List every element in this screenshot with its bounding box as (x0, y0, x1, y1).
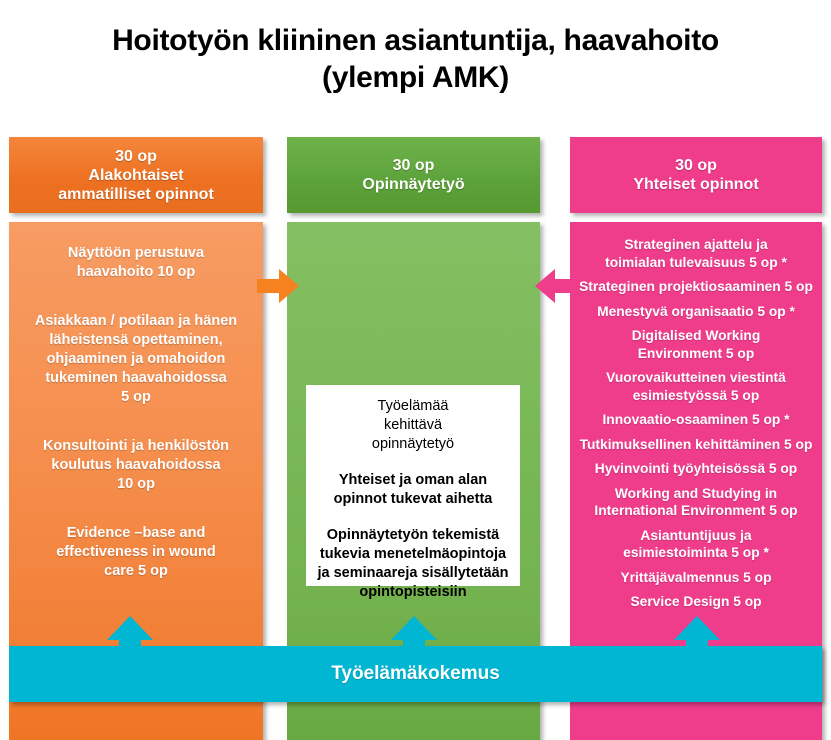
thesis-box-bold-text-2: Opinnäytetyön tekemistä tukevia menetelm… (316, 526, 510, 602)
page-title-line-2: (ylempi AMK) (0, 59, 831, 96)
work-experience-bar: Työelämäkokemus (9, 646, 822, 702)
thesis-header-line-1: 30 op (362, 156, 464, 175)
professional-item: Asiakkaan / potilaan ja hänen läheistens… (23, 312, 249, 407)
common-item: Service Design 5 op (573, 593, 819, 611)
common-header-line-2: Yhteiset opinnot (633, 175, 758, 194)
thesis-detail-box: Työelämää kehittävä opinnäytetyö Yhteise… (306, 385, 520, 586)
common-header-line-1: 30 op (633, 156, 758, 175)
arrow-left-icon (535, 265, 577, 307)
thesis-box-plain-text: Työelämää kehittävä opinnäytetyö (316, 397, 510, 454)
professional-item: Konsultointi ja henkilöstön koulutus haa… (23, 437, 249, 494)
common-item: Tutkimuksellinen kehittäminen 5 op (573, 436, 819, 454)
page-title-line-1: Hoitotyön kliininen asiantuntija, haavah… (112, 24, 719, 57)
common-item: Yrittäjävalmennus 5 op (573, 569, 819, 587)
common-item: Working and Studying in International En… (573, 485, 819, 520)
professional-item: Evidence –base and effectiveness in woun… (23, 524, 249, 581)
common-item: Hyvinvointi työyhteisössä 5 op (573, 460, 819, 478)
common-item: Digitalised Working Environment 5 op (573, 327, 819, 362)
thesis-box-bold-text-1: Yhteiset ja oman alan opinnot tukevat ai… (316, 471, 510, 509)
arrow-right-icon (257, 265, 299, 307)
thesis-header-line-2: Opinnäytetyö (362, 175, 464, 194)
common-item: Innovaatio-osaaminen 5 op * (573, 411, 819, 429)
professional-header-line-1: 30 op (58, 147, 214, 166)
column-professional-header: 30 op Alakohtaiset ammatilliset opinnot (9, 137, 263, 213)
column-thesis-header: 30 op Opinnäytetyö (287, 137, 540, 213)
page-title: Hoitotyön kliininen asiantuntija, haavah… (0, 22, 831, 96)
common-item: Vuorovaikutteinen viestintä esimiestyöss… (573, 369, 819, 404)
professional-item: Näyttöön perustuva haavahoito 10 op (23, 244, 249, 282)
professional-header-line-2: Alakohtaiset (58, 166, 214, 185)
common-item: Menestyvä organisaatio 5 op * (573, 303, 819, 321)
column-common-header: 30 op Yhteiset opinnot (570, 137, 822, 213)
common-item: Strateginen projektiosaaminen 5 op (573, 278, 819, 296)
common-item: Strateginen ajattelu ja toimialan tuleva… (573, 236, 819, 271)
common-item: Asiantuntijuus ja esimiestoiminta 5 op * (573, 527, 819, 562)
work-experience-label: Työelämäkokemus (331, 663, 500, 685)
professional-header-line-3: ammatilliset opinnot (58, 185, 214, 204)
